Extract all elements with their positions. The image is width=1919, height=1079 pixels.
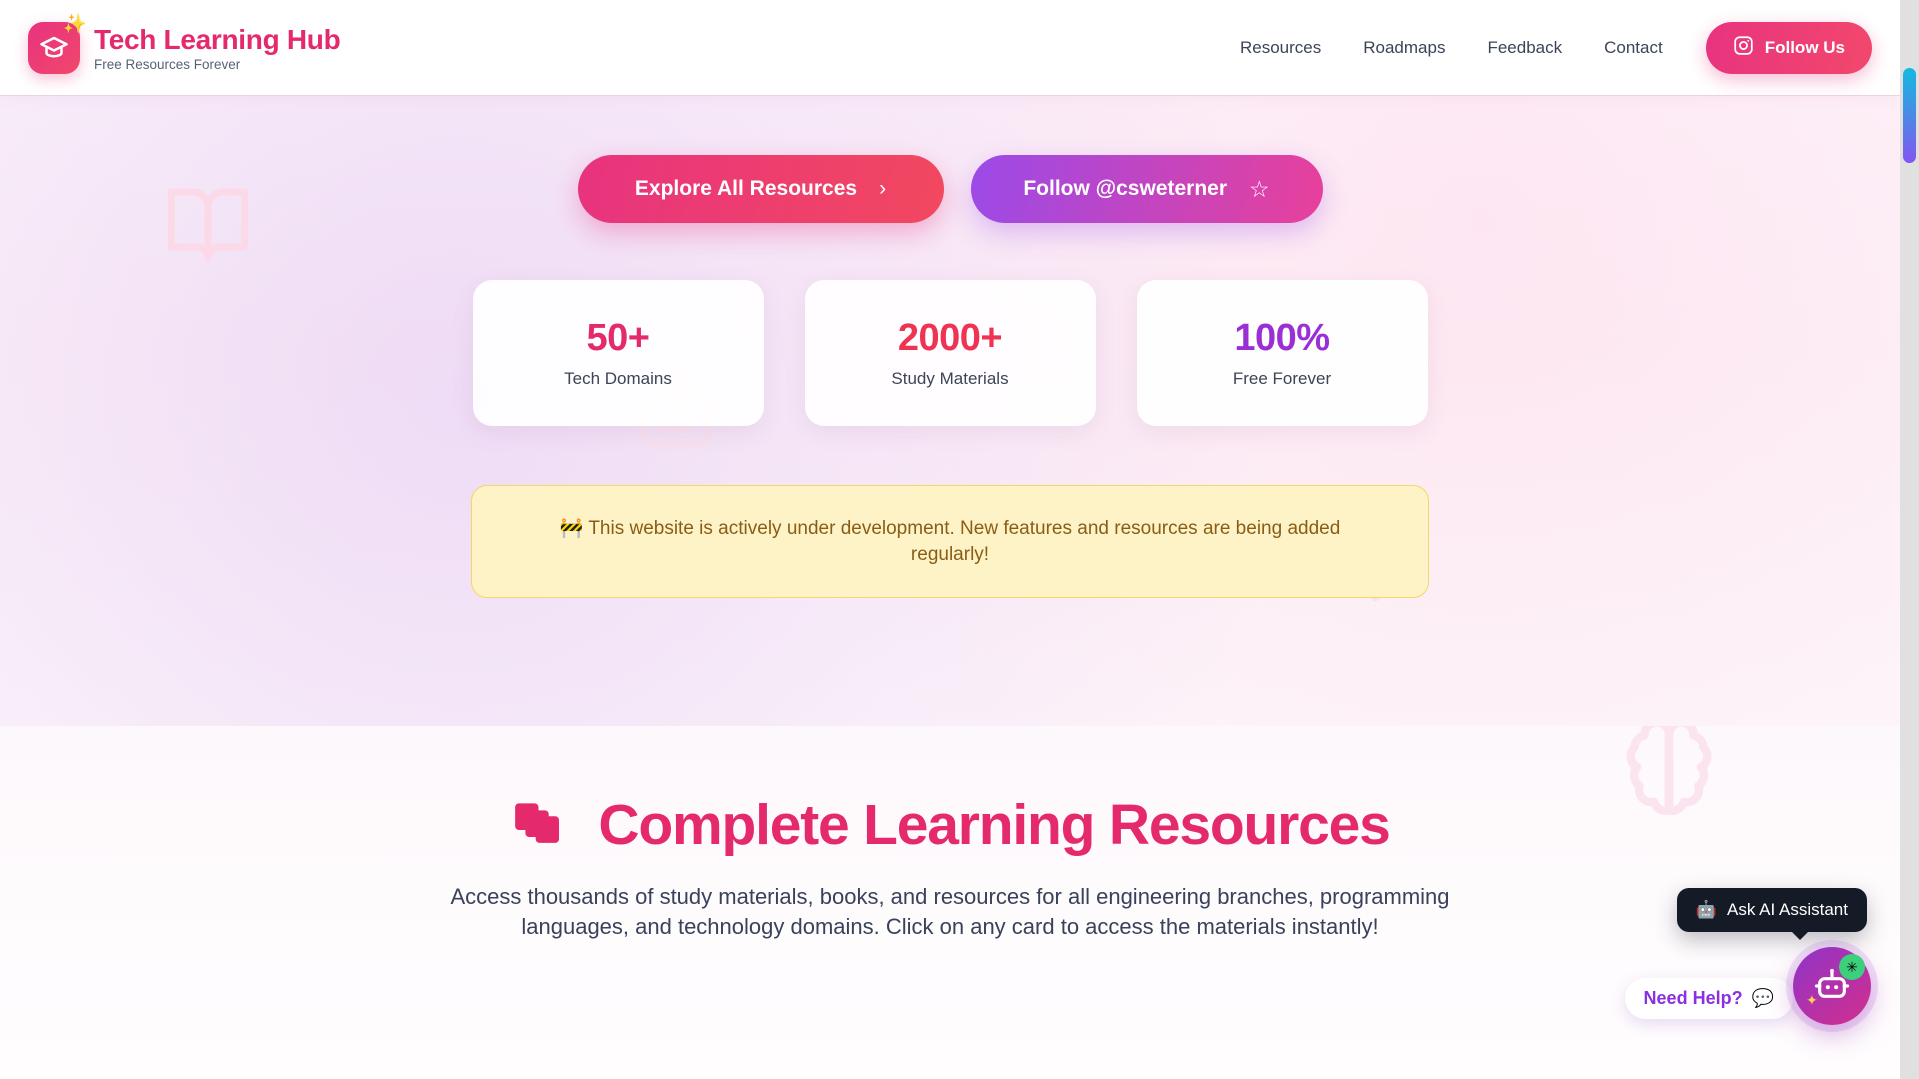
sparkle-icon: ✦ [1806,992,1818,1009]
scrollbar-thumb[interactable] [1903,68,1916,163]
ai-assistant-fab[interactable]: ✳ ✦ [1793,947,1871,1025]
robot-emoji-icon: 🤖 [1696,900,1717,920]
nav-item-roadmaps[interactable]: Roadmaps [1342,28,1466,68]
speech-bubble-icon: 💬 [1752,988,1774,1009]
stacked-layers-icon [510,795,566,856]
brand-title: Tech Learning Hub [94,24,340,56]
follow-us-button[interactable]: Follow Us [1706,22,1872,74]
hero-section: Explore All Resources › Follow @cswetern… [0,96,1900,598]
brand-logo[interactable]: ✨ Tech Learning Hub Free Resources Forev… [28,22,340,74]
hero-cta-row: Explore All Resources › Follow @cswetern… [578,155,1323,223]
status-badge: ✳ [1839,954,1865,980]
stat-label: Tech Domains [564,369,672,389]
section-description: Access thousands of study materials, boo… [420,882,1480,941]
explore-all-resources-button[interactable]: Explore All Resources › [578,155,944,223]
logo-wrap: ✨ [28,22,80,74]
stat-value: 2000+ [898,317,1002,360]
follow-us-label: Follow Us [1765,38,1845,58]
sparkle-icon: ✨ [63,15,87,34]
chevron-right-icon: › [879,177,886,201]
site-header: ✨ Tech Learning Hub Free Resources Forev… [0,0,1900,96]
section-title-row: Complete Learning Resources [510,792,1389,858]
page-viewport: ✨ Tech Learning Hub Free Resources Forev… [0,0,1919,1079]
stat-label: Free Forever [1233,369,1331,389]
stat-value: 100% [1234,317,1329,360]
ask-ai-assistant-tooltip: 🤖 Ask AI Assistant [1677,888,1867,932]
instagram-icon [1733,35,1754,61]
stat-value: 50+ [587,317,650,360]
ask-ai-assistant-label: Ask AI Assistant [1727,900,1848,920]
need-help-label: Need Help? [1644,988,1743,1009]
development-notice-banner: 🚧 This website is actively under develop… [471,485,1429,598]
stat-card-free-forever: 100% Free Forever [1137,280,1428,426]
main-navigation: Resources Roadmaps Feedback Contact Foll… [1219,22,1900,74]
star-outline-icon: ☆ [1249,176,1270,203]
page-scrollbar[interactable] [1900,0,1919,1079]
page-title: Complete Learning Resources [598,792,1389,858]
follow-handle-label: Follow @csweterner [1023,177,1227,201]
stats-row: 50+ Tech Domains 2000+ Study Materials 1… [473,280,1428,426]
stat-label: Study Materials [891,369,1008,389]
resources-section: Complete Learning Resources Access thous… [0,726,1900,941]
construction-barrier-icon: 🚧 [560,518,584,539]
nav-item-contact[interactable]: Contact [1583,28,1684,68]
explore-label: Explore All Resources [635,177,857,201]
stat-card-study-materials: 2000+ Study Materials [805,280,1096,426]
nav-item-feedback[interactable]: Feedback [1466,28,1583,68]
nav-item-resources[interactable]: Resources [1219,28,1342,68]
brand-text: Tech Learning Hub Free Resources Forever [94,24,340,72]
notice-message: This website is actively under developme… [588,518,1340,564]
brand-subtitle: Free Resources Forever [94,57,340,72]
follow-handle-button[interactable]: Follow @csweterner ☆ [971,155,1323,223]
notice-text: 🚧 This website is actively under develop… [530,516,1370,567]
need-help-pill[interactable]: Need Help? 💬 [1625,978,1793,1019]
stat-card-tech-domains: 50+ Tech Domains [473,280,764,426]
